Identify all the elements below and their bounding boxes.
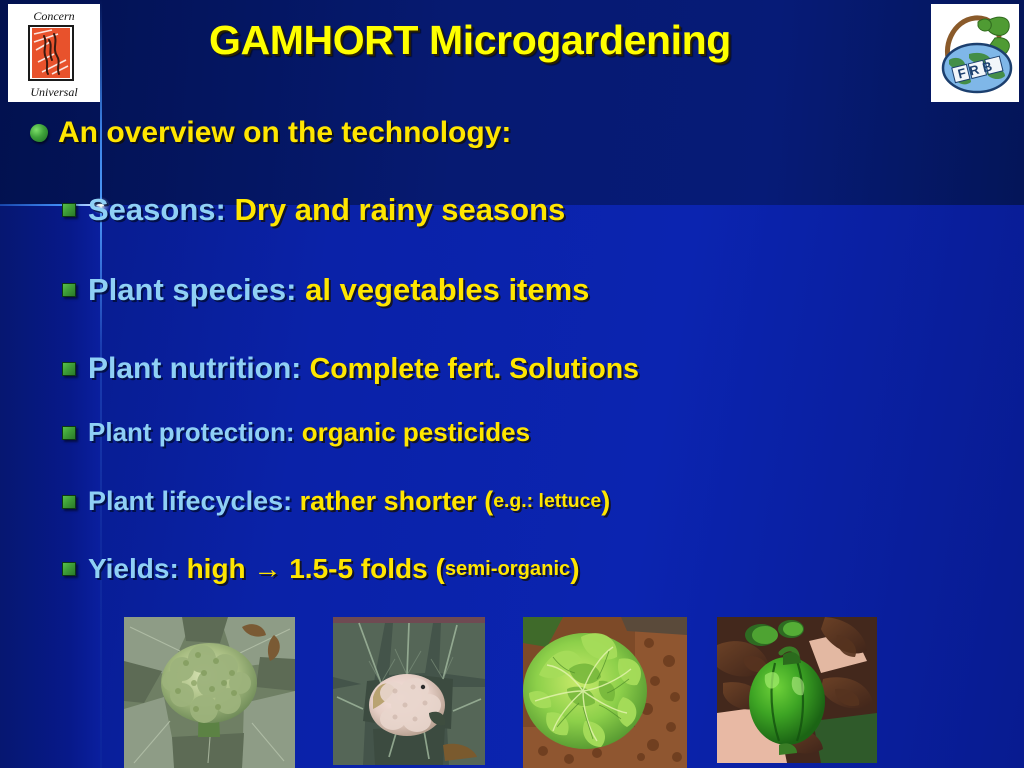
bullet-row-plant-protection: Plant protection: organic pesticides xyxy=(62,417,530,448)
green-blob-bullet-icon xyxy=(30,124,48,142)
green-square-bullet-icon xyxy=(62,562,76,576)
bullet-row-plant-species: Plant species: al vegetables items xyxy=(62,272,589,308)
bullet-row-plant-nutrition: Plant nutrition: Complete fert. Solution… xyxy=(62,352,639,386)
frb-logo: FRB xyxy=(931,4,1019,102)
bullet-note-close: ) xyxy=(570,553,579,585)
green-square-bullet-icon xyxy=(62,283,76,297)
logo-left-top-text: Concern xyxy=(33,9,74,23)
logo-left-bottom-text: Universal xyxy=(30,85,78,99)
green-square-bullet-icon xyxy=(62,203,76,217)
bullet-note: e.g.: lettuce xyxy=(493,490,601,513)
slide-title: GAMHORT Microgardening xyxy=(120,14,820,72)
overview-label: An overview on the technology: xyxy=(58,116,511,150)
photo-lettuce xyxy=(523,617,687,768)
bullet-label: Plant nutrition: xyxy=(88,352,301,386)
green-square-bullet-icon xyxy=(62,362,76,376)
bullet-label: Plant protection: xyxy=(88,417,295,448)
bullet-value: al vegetables items xyxy=(305,272,589,308)
bullet-note-close: ) xyxy=(601,486,610,517)
bullet-note-open: ( xyxy=(435,553,444,585)
bullet-value: Complete fert. Solutions xyxy=(310,353,639,386)
concern-universal-logo: Concern Universal xyxy=(8,4,100,102)
bullet-value: organic pesticides xyxy=(302,417,530,448)
bullet-label: Yields: xyxy=(88,553,179,585)
bullet-row-plant-lifecycles: Plant lifecycles: rather shorter ( e.g.:… xyxy=(62,486,610,517)
green-square-bullet-icon xyxy=(62,426,76,440)
bullet-row-seasons: Seasons: Dry and rainy seasons xyxy=(62,192,565,228)
green-square-bullet-icon xyxy=(62,495,76,509)
bullet-value: rather shorter xyxy=(300,486,477,517)
bullet-label: Seasons: xyxy=(88,192,226,228)
bullet-note-open: ( xyxy=(484,486,493,517)
slide-canvas: Concern Universal xyxy=(0,0,1024,768)
bullet-label: Plant lifecycles: xyxy=(88,486,292,517)
photo-broccoli xyxy=(124,617,295,768)
photo-cauliflower xyxy=(333,617,485,765)
bullet-row-overview: An overview on the technology: xyxy=(30,116,511,150)
bullet-row-yields: Yields: high → 1.5-5 folds ( semi-organi… xyxy=(62,553,580,585)
bullet-value: Dry and rainy seasons xyxy=(234,192,565,228)
photo-pepper xyxy=(717,617,877,763)
bullet-note: semi-organic xyxy=(445,558,570,581)
bullet-label: Plant species: xyxy=(88,272,296,308)
bullet-value: high → 1.5-5 folds xyxy=(187,553,428,585)
